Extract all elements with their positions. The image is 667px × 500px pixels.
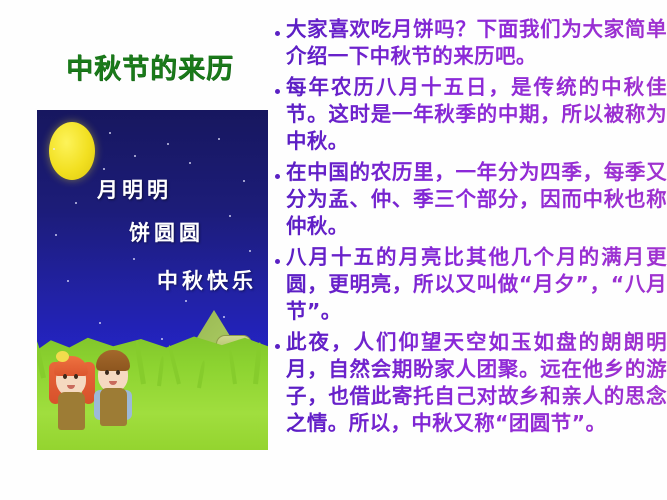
bullet-text: 大家喜欢吃月饼吗？下面我们为大家简单介绍一下中秋节的来历吧。 <box>286 16 667 70</box>
list-item: 在中国的农历里，一年分为四季，每季又分为孟、仲、季三个部分，因而中秋也称仲秋。 <box>268 159 667 240</box>
torso <box>58 392 85 430</box>
star-icon <box>134 155 136 157</box>
bullet-icon <box>268 74 286 97</box>
star-icon <box>75 202 77 204</box>
eye <box>74 374 78 379</box>
picture-caption-line-1: 月明明 <box>97 174 172 204</box>
bullet-text: 在中国的农历里，一年分为四季，每季又分为孟、仲、季三个部分，因而中秋也称仲秋。 <box>286 159 667 240</box>
eye <box>116 370 120 375</box>
star-icon <box>53 148 55 150</box>
torso <box>100 388 127 426</box>
star-icon <box>189 162 191 164</box>
mid-autumn-illustration: 月明明 饼圆圆 中秋快乐 <box>37 110 268 450</box>
star-icon <box>229 215 231 217</box>
list-item: 大家喜欢吃月饼吗？下面我们为大家简单介绍一下中秋节的来历吧。 <box>268 16 667 70</box>
star-icon <box>55 234 57 236</box>
star-icon <box>103 168 105 170</box>
picture-caption-line-3: 中秋快乐 <box>157 265 257 295</box>
star-icon <box>167 143 169 145</box>
bullet-icon <box>268 16 286 39</box>
star-icon <box>243 180 245 182</box>
child-figure-boy <box>93 346 141 436</box>
picture-caption-line-2: 饼圆圆 <box>129 217 204 247</box>
bullet-text: 此夜，人们仰望天空如玉如盘的朗朗明月，自然会期盼家人团聚。远在他乡的游子，也借此… <box>286 329 667 437</box>
star-icon <box>249 250 251 252</box>
list-item: 每年农历八月十五日，是传统的中秋佳节。这时是一年秋季的中期，所以被称为中秋。 <box>268 74 667 155</box>
content-body: 大家喜欢吃月饼吗？下面我们为大家简单介绍一下中秋节的来历吧。 每年农历八月十五日… <box>268 16 667 441</box>
bullet-icon <box>268 329 286 352</box>
bullet-icon <box>268 159 286 182</box>
hair-bow-icon <box>56 351 69 362</box>
page-title: 中秋节的来历 <box>36 54 264 86</box>
list-item: 此夜，人们仰望天空如玉如盘的朗朗明月，自然会期盼家人团聚。远在他乡的游子，也借此… <box>268 329 667 437</box>
star-icon <box>67 280 69 282</box>
star-icon <box>218 138 220 140</box>
list-item: 八月十五的月亮比其他几个月的满月更圆，更明亮，所以又叫做“月夕”，“八月节”。 <box>268 244 667 325</box>
star-icon <box>223 316 225 318</box>
eye <box>105 370 109 375</box>
child-figure-girl <box>51 350 97 436</box>
bullet-text: 每年农历八月十五日，是传统的中秋佳节。这时是一年秋季的中期，所以被称为中秋。 <box>286 74 667 155</box>
eye <box>63 374 67 379</box>
star-icon <box>99 322 101 324</box>
presentation-slide: 中秋节的来历 月明明 饼圆圆 中秋快乐 <box>0 0 667 500</box>
left-column: 中秋节的来历 月明明 饼圆圆 中秋快乐 <box>0 0 268 500</box>
star-icon <box>185 300 187 302</box>
hair-top <box>96 350 130 371</box>
star-icon <box>109 132 111 134</box>
moon-icon <box>49 122 95 180</box>
bullet-text: 八月十五的月亮比其他几个月的满月更圆，更明亮，所以又叫做“月夕”，“八月节”。 <box>286 244 667 325</box>
star-icon <box>161 338 163 340</box>
star-icon <box>133 258 135 260</box>
bullet-icon <box>268 244 286 267</box>
